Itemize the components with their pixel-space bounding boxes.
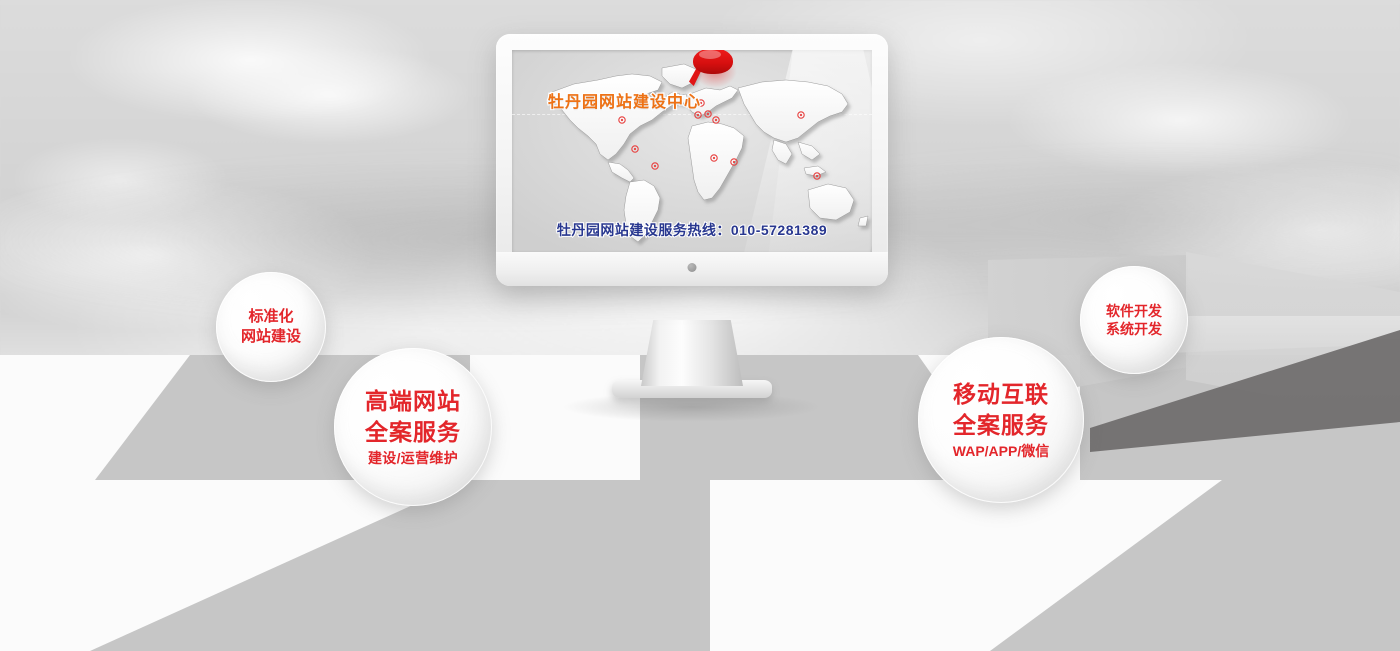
bubble-line-2: 网站建设 (241, 327, 301, 347)
bubble-highend-website[interactable]: 高端网站 全案服务 建设/运营维护 (334, 348, 492, 506)
bubble-line-2: 全案服务 (365, 417, 461, 447)
hero-banner: 牡丹园网站建设中心 牡丹园网站建设服务热线：010-57281389 标准化 网… (0, 0, 1400, 651)
monitor-screen: 牡丹园网站建设中心 牡丹园网站建设服务热线：010-57281389 (512, 50, 872, 252)
monitor-stand (641, 320, 743, 386)
hotline-text: 牡丹园网站建设服务热线：010-57281389 (512, 220, 872, 240)
bubble-line-3: 建设/运营维护 (368, 449, 458, 467)
floor-tile (990, 480, 1400, 651)
bubble-mobile-internet[interactable]: 移动互联 全案服务 WAP/APP/微信 (918, 337, 1084, 503)
location-pin-icon (687, 50, 739, 92)
bubble-line-1: 移动互联 (953, 379, 1049, 409)
bubble-line-1: 高端网站 (365, 386, 461, 416)
bubble-software-dev[interactable]: 软件开发 系统开发 (1080, 266, 1188, 374)
power-indicator-icon (688, 263, 697, 272)
bubble-line-2: 系统开发 (1106, 320, 1162, 338)
floor-tile (90, 480, 710, 651)
bubble-line-1: 标准化 (248, 307, 293, 327)
bubble-line-2: 全案服务 (953, 410, 1049, 440)
bubble-line-3: WAP/APP/微信 (953, 442, 1049, 460)
bubble-standard-website[interactable]: 标准化 网站建设 (216, 272, 326, 382)
bubble-line-1: 软件开发 (1106, 302, 1162, 320)
screen-title: 牡丹园网站建设中心 (548, 88, 701, 112)
monitor: 牡丹园网站建设中心 牡丹园网站建设服务热线：010-57281389 (496, 34, 888, 286)
monitor-chin (496, 252, 888, 286)
monitor-frame: 牡丹园网站建设中心 牡丹园网站建设服务热线：010-57281389 (496, 34, 888, 286)
